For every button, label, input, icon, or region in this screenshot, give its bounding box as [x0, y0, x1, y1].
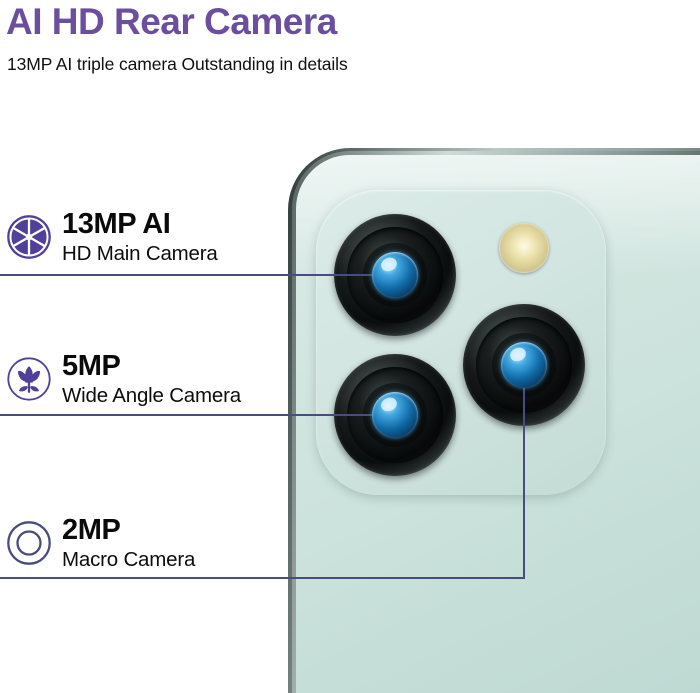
lens-glint-wide: [372, 392, 418, 438]
phone-product-image: [280, 140, 700, 693]
feature-description: Wide Angle Camera: [62, 384, 241, 408]
connector-line-macro-vertical: [523, 365, 525, 579]
connector-line-wide: [0, 414, 396, 416]
connector-line-macro-horizontal: [0, 577, 525, 579]
tulip-flower-icon: [6, 356, 52, 402]
aperture-icon: [6, 214, 52, 260]
feature-megapixels: 2MP: [62, 514, 120, 547]
page-title: AI HD Rear Camera: [6, 2, 337, 43]
page-subtitle: 13MP AI triple camera Outstanding in det…: [7, 54, 348, 75]
lens-glint-main: [372, 252, 418, 298]
concentric-circles-icon: [6, 520, 52, 566]
feature-megapixels: 13MP AI: [62, 208, 170, 241]
led-flash-icon: [499, 223, 549, 273]
connector-line-main: [0, 274, 396, 276]
feature-megapixels: 5MP: [62, 350, 120, 383]
feature-description: Macro Camera: [62, 548, 195, 572]
lens-glint-macro: [501, 342, 547, 388]
feature-description: HD Main Camera: [62, 242, 218, 266]
